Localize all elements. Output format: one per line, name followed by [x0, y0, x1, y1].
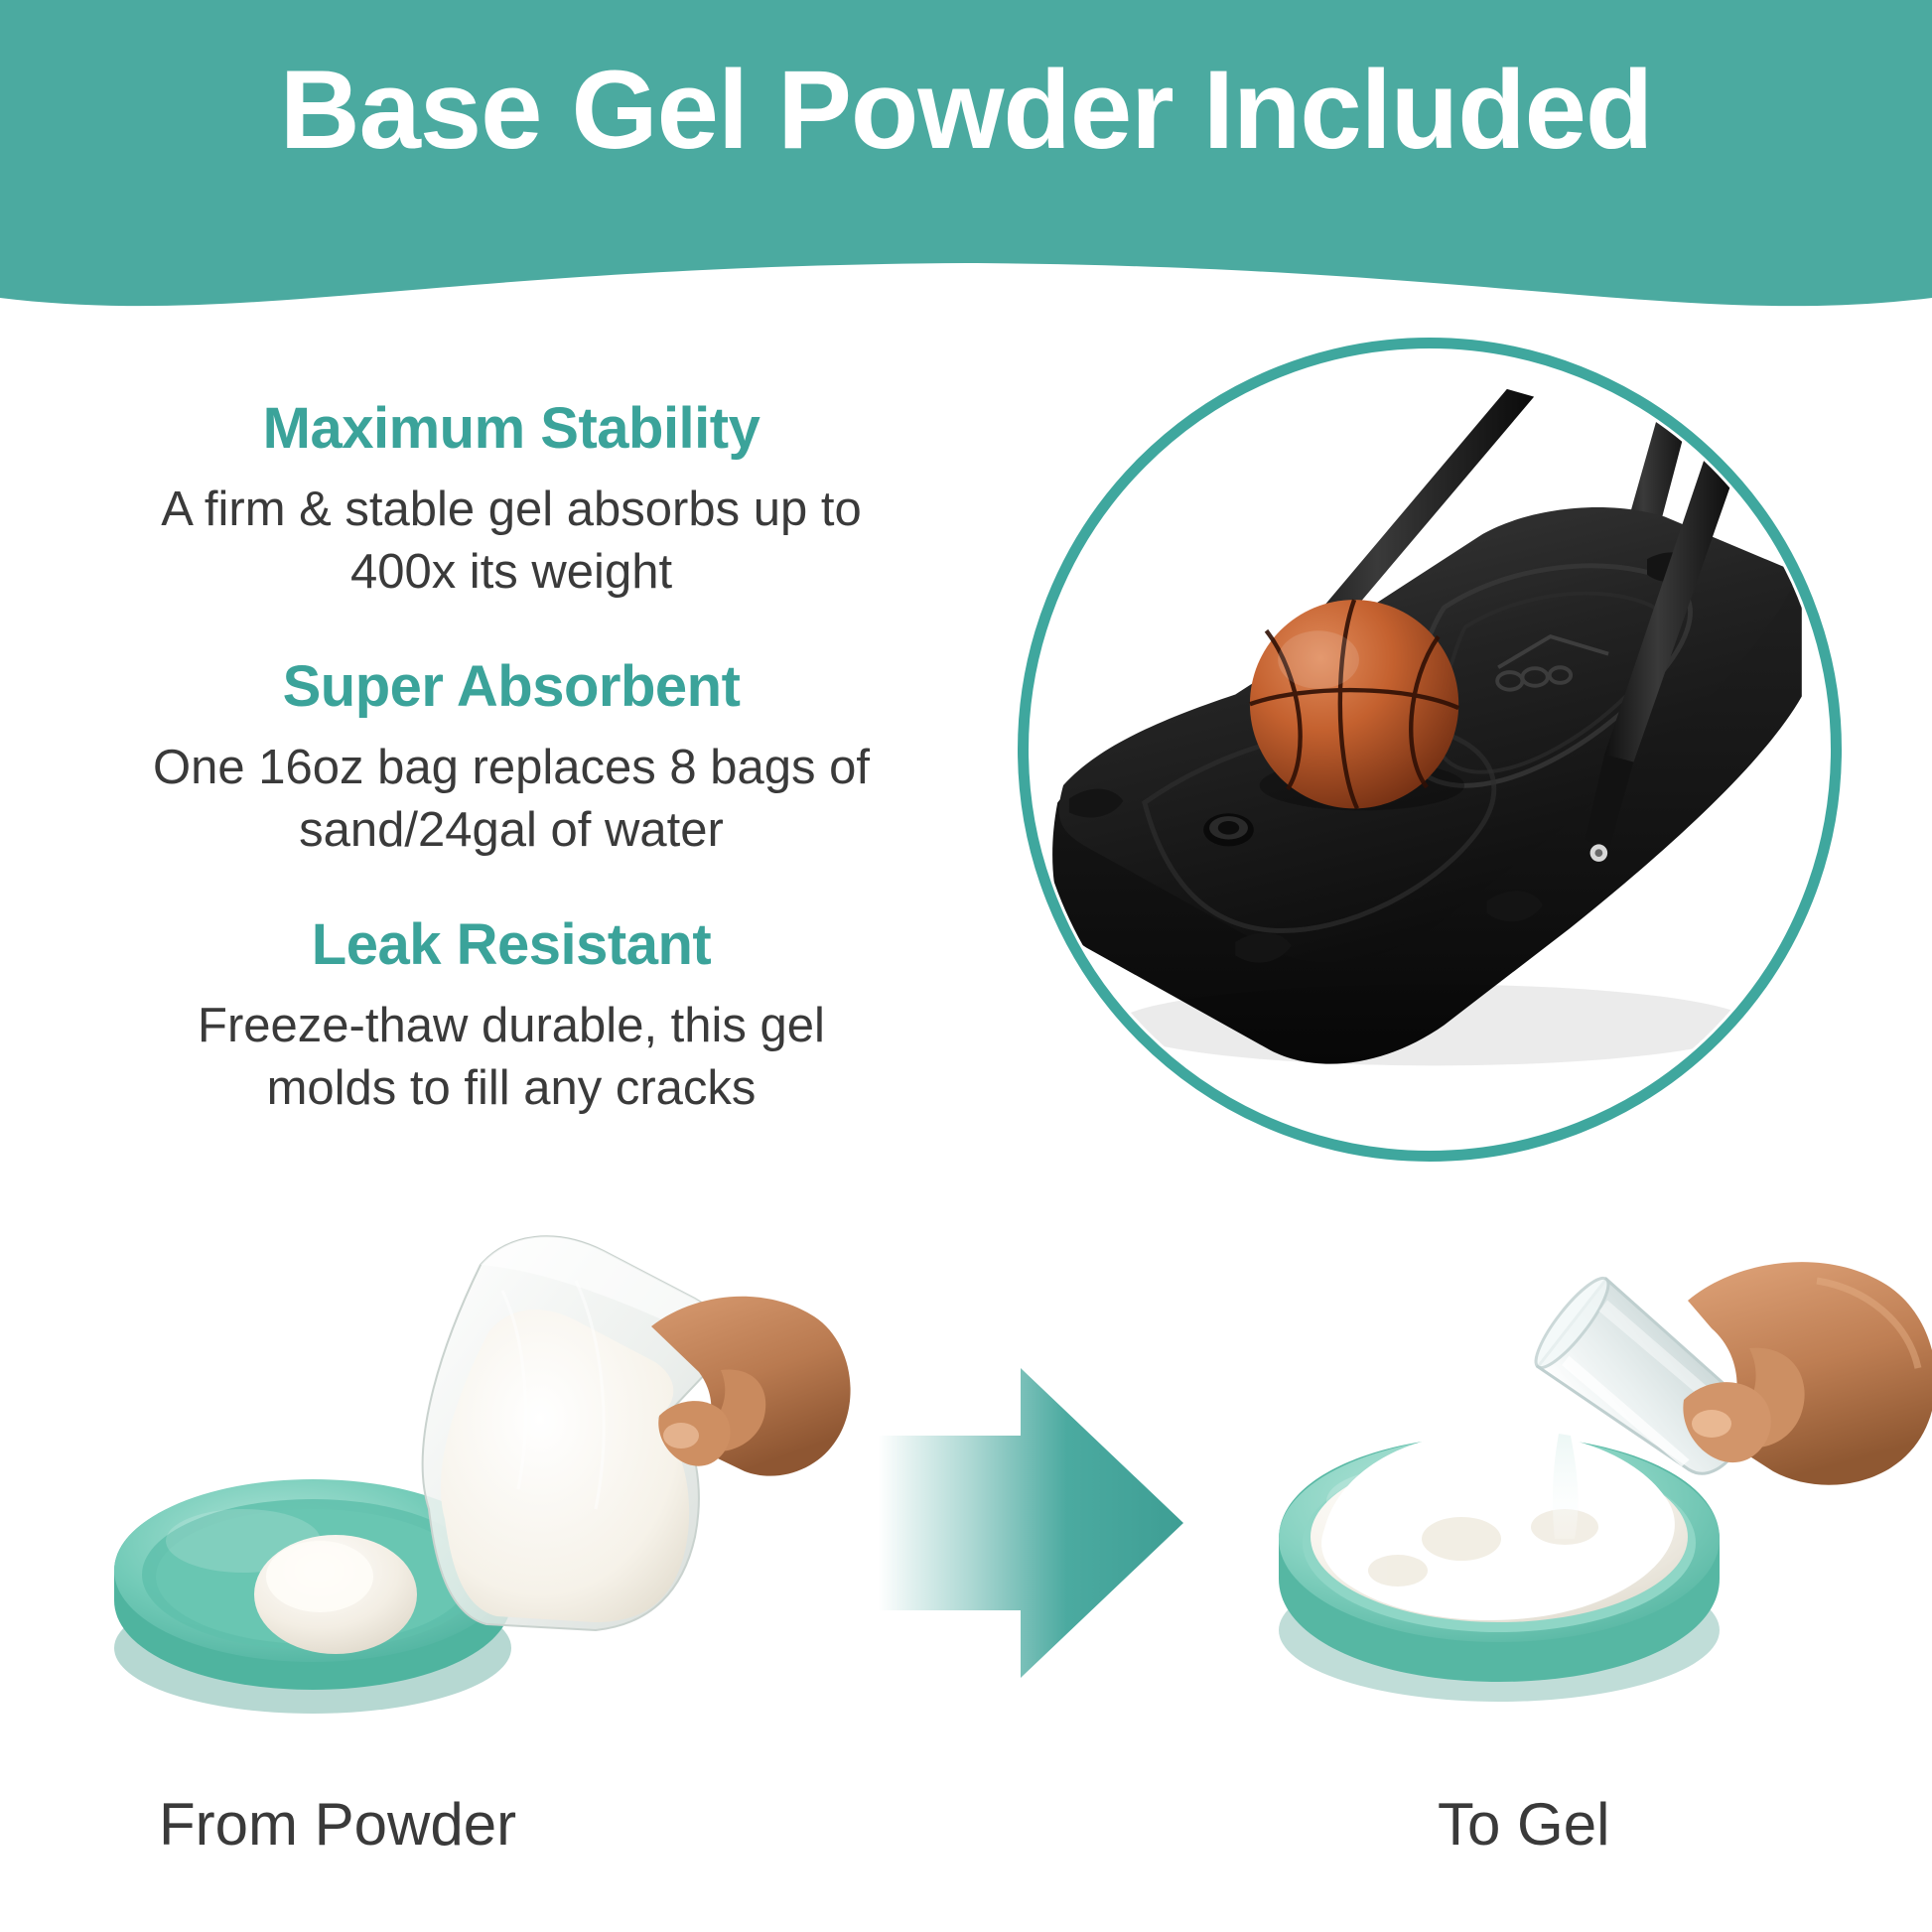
- right-arrow-icon: [872, 1368, 1189, 1678]
- caption-to-gel: To Gel: [1438, 1795, 1609, 1855]
- powder-mound-left: [254, 1535, 417, 1654]
- feature-body: A firm & stable gel absorbs up to 400x i…: [69, 479, 953, 603]
- demo-from-powder: [60, 1221, 854, 1737]
- gel-bowl-illustration: [1221, 1241, 1932, 1737]
- feature-item-leak-resistant: Leak Resistant Freeze-thaw durable, this…: [69, 911, 953, 1120]
- caption-from-powder: From Powder: [159, 1795, 516, 1855]
- product-photo-circle: [1018, 338, 1842, 1162]
- feature-body: One 16oz bag replaces 8 bags of sand/24g…: [69, 737, 953, 861]
- transition-arrow: [872, 1368, 1189, 1678]
- infographic-page: Base Gel Powder Included Maximum Stabili…: [0, 0, 1932, 1932]
- feature-body: Freeze-thaw durable, this gel molds to f…: [69, 995, 953, 1119]
- hand-holding-glass: [1683, 1262, 1932, 1485]
- feature-list: Maximum Stability A firm & stable gel ab…: [69, 395, 953, 1120]
- feature-item-maximum-stability: Maximum Stability A firm & stable gel ab…: [69, 395, 953, 604]
- feature-item-super-absorbent: Super Absorbent One 16oz bag replaces 8 …: [69, 653, 953, 862]
- feature-title: Maximum Stability: [69, 395, 953, 463]
- page-title: Base Gel Powder Included: [0, 48, 1932, 172]
- demo-to-gel: [1221, 1241, 1932, 1737]
- powder-bowl-illustration: [60, 1221, 854, 1737]
- hoop-base-illustration: [1029, 348, 1831, 1151]
- feature-title: Leak Resistant: [69, 911, 953, 979]
- fill-cap: [1203, 813, 1254, 846]
- feature-title: Super Absorbent: [69, 653, 953, 721]
